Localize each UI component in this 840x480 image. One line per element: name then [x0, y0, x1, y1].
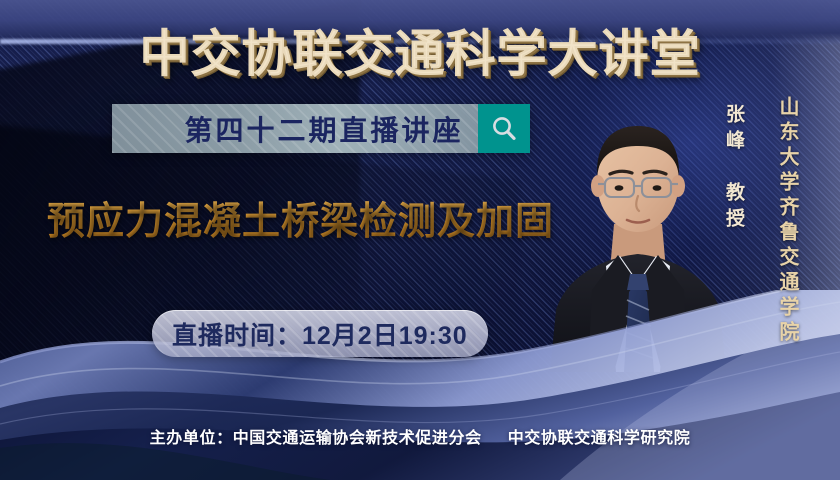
broadcast-time-badge: 直播时间：12月2日19:30: [152, 310, 488, 357]
broadcast-time-label: 直播时间：12月2日19:30: [152, 316, 488, 352]
footer-prefix: 主办单位：: [150, 430, 233, 447]
lecture-title: 预应力混凝土桥梁检测及加固: [47, 190, 554, 245]
footer: 主办单位：中国交通运输协会新技术促进分会中交协联交通科学研究院: [0, 424, 840, 448]
footer-organizer-1: 中国交通运输协会新技术促进分会: [233, 430, 482, 447]
episode-banner[interactable]: 第四十二期直播讲座: [112, 104, 530, 153]
speaker-organization: 山东大学齐鲁交通学院: [774, 96, 798, 346]
episode-banner-body: 第四十二期直播讲座: [112, 104, 478, 153]
footer-organizer-2: 中交协联交通科学研究院: [508, 430, 691, 447]
episode-label: 第四十二期直播讲座: [126, 109, 463, 149]
search-icon[interactable]: [478, 104, 530, 153]
speaker-name: 张峰 教授: [722, 104, 744, 234]
page-title: 中交协联交通科学大讲堂: [140, 14, 701, 86]
livestream-poster: 中交协联交通科学大讲堂 第四十二期直播讲座 预应力混凝土桥梁检测及加固 直播时间…: [0, 0, 840, 480]
